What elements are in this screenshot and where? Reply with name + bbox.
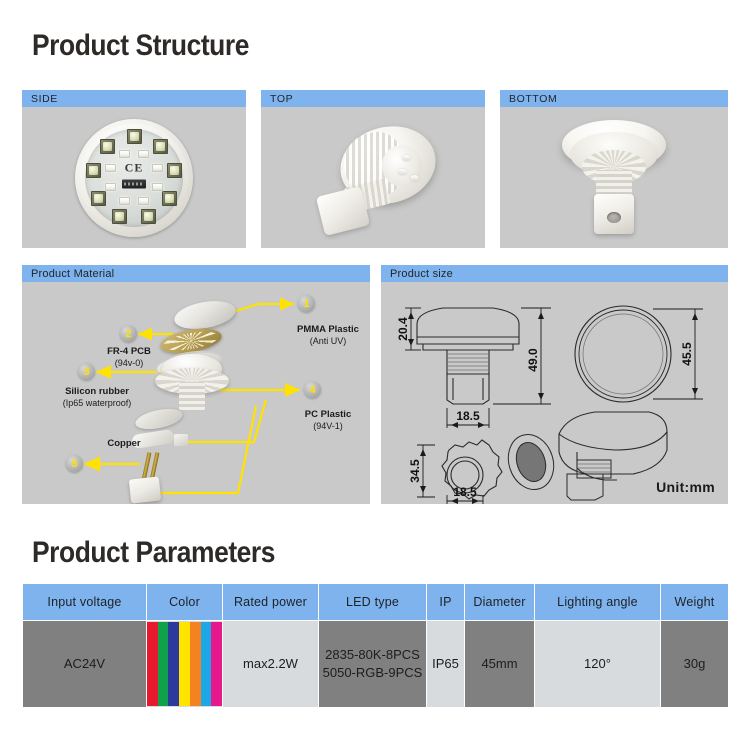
led-pcb-front-view: CE [75,119,193,237]
callout-label-2: FR-4 PCB (94v-0) [80,346,178,369]
callout-badge-4: 4 [304,381,321,398]
dim-text-34-5: 34.5 [408,459,422,483]
cell-weight: 30g [661,621,729,708]
panel-top-header: TOP [261,90,485,107]
panel-side: SIDE CE [22,90,246,248]
callout-badge-2: 2 [120,325,137,342]
panel-size-header: Product size [381,265,728,282]
panel-top-image [261,107,485,248]
rgb-led-5050 [86,163,101,178]
cell-input-voltage: AC24V [23,621,147,708]
dim-text-49-0: 49.0 [526,348,540,372]
product-spec-sheet: Product Structure SIDE CE TOP [0,0,750,750]
col-header-input-voltage: Input voltage [23,584,147,621]
led-spot [402,155,411,161]
color-swatch-3 [168,622,179,706]
page-title-product-structure: Product Structure [32,29,249,63]
unit-label: Unit:mm [656,479,715,495]
panel-side-image: CE [22,107,246,248]
rgb-led-5050 [162,191,177,206]
callout-label-2-name: FR-4 PCB [107,346,151,357]
callout-label-4-detail: (94V-1) [280,421,370,432]
callout-label-4-name: PC Plastic [305,409,351,420]
rgb-led-5050 [167,163,182,178]
callout-badge-5: 5 [66,455,83,472]
panel-side-header: SIDE [22,90,246,107]
panel-product-size: Product size [381,265,728,504]
panel-product-material: Product Material [22,265,370,504]
rgb-led-5050 [91,191,106,206]
callout-label-4: PC Plastic (94V-1) [280,409,370,432]
rgb-led-5050 [112,209,127,224]
parameters-table: Input voltage Color Rated power LED type… [22,583,729,708]
dim-text-18-5-bottom: 18.5 [453,485,477,499]
ce-mark-icon: CE [125,160,144,175]
lamp-top-view-render [298,121,448,236]
col-header-ip: IP [427,584,465,621]
dim-text-18-5-top: 18.5 [456,409,480,423]
technical-drawing: 20.4 49.0 18.5 [381,282,728,504]
cell-diameter: 45mm [465,621,535,708]
led-type-line-1: 2835-80K-8PCS [320,646,425,664]
led-spot [398,169,407,175]
gasket-inner [512,439,551,486]
panel-top: TOP [261,90,485,248]
cell-color-swatches [147,621,223,708]
table-header-row: Input voltage Color Rated power LED type… [23,584,729,621]
white-led-2835 [105,183,116,191]
dim-text-20-4: 20.4 [396,317,410,341]
col-header-diameter: Diameter [465,584,535,621]
led-spot [410,175,419,181]
white-led-2835 [138,150,149,158]
callout-label-5-name: Copper [107,438,140,449]
callout-label-3: Silicon rubber (Ip65 waterproof) [34,386,160,409]
callout-badge-1: 1 [298,295,315,312]
cell-led-type: 2835-80K-8PCS 5050-RGB-9PCS [319,621,427,708]
rgb-led-5050 [100,139,115,154]
top-view-outer [575,306,671,402]
panel-bottom-header: BOTTOM [500,90,728,107]
panel-bottom: BOTTOM [500,90,728,248]
side-view-dome [417,308,519,344]
lamp-cable-hole [607,212,621,223]
white-led-2835 [119,197,130,205]
callout-label-5: Copper [84,438,164,450]
rgb-led-5050 [127,129,142,144]
exploded-view-diagram: 1 2 3 4 5 PMMA Plastic (Anti UV) FR-4 PC… [22,282,370,504]
color-swatch-7 [211,622,222,706]
led-type-line-2: 5050-RGB-9PCS [320,664,425,682]
col-header-color: Color [147,584,223,621]
panel-material-header: Product Material [22,265,370,282]
table-row: AC24V max2.2W 2835-80K-8PCS 5050-RGB-9PC… [23,621,729,708]
dimension-drawing: 20.4 49.0 18.5 [381,282,728,504]
lamp-connector-block [316,186,370,236]
col-header-rated-power: Rated power [223,584,319,621]
callout-label-1-name: PMMA Plastic [297,324,359,335]
white-led-2835 [119,150,130,158]
col-header-lighting-angle: Lighting angle [535,584,661,621]
color-swatch-4 [179,622,190,706]
callout-label-1: PMMA Plastic (Anti UV) [280,324,370,347]
callout-label-1-detail: (Anti UV) [280,336,370,347]
rgb-led-5050 [153,139,168,154]
lamp-bottom-view-render [544,116,684,244]
dim-text-45-5: 45.5 [680,342,694,366]
white-led-2835 [138,197,149,205]
cell-lighting-angle: 120° [535,621,661,708]
perspective-view [559,412,667,480]
driver-ic-chip [122,180,146,189]
col-header-weight: Weight [661,584,729,621]
white-led-2835 [152,183,163,191]
side-view-base-lip [423,344,513,350]
callout-label-3-detail: (Ip65 waterproof) [34,398,160,409]
color-swatch-5 [190,622,201,706]
page-title-product-parameters: Product Parameters [32,536,275,570]
top-view-inner [579,310,667,398]
color-swatch-strip [147,622,222,706]
cell-ip: IP65 [427,621,465,708]
panel-bottom-image [500,107,728,248]
color-swatch-2 [158,622,169,706]
white-led-2835 [152,164,163,172]
white-led-2835 [105,164,116,172]
color-swatch-6 [201,622,212,706]
part-clip [174,434,188,446]
cell-rated-power: max2.2W [223,621,319,708]
color-swatch-1 [147,622,158,706]
callout-label-2-detail: (94v-0) [80,358,178,369]
col-header-led-type: LED type [319,584,427,621]
callout-label-3-name: Silicon rubber [65,386,129,397]
part-threaded-stem [179,382,205,410]
part-connector-base [129,476,161,503]
rgb-led-5050 [141,209,156,224]
